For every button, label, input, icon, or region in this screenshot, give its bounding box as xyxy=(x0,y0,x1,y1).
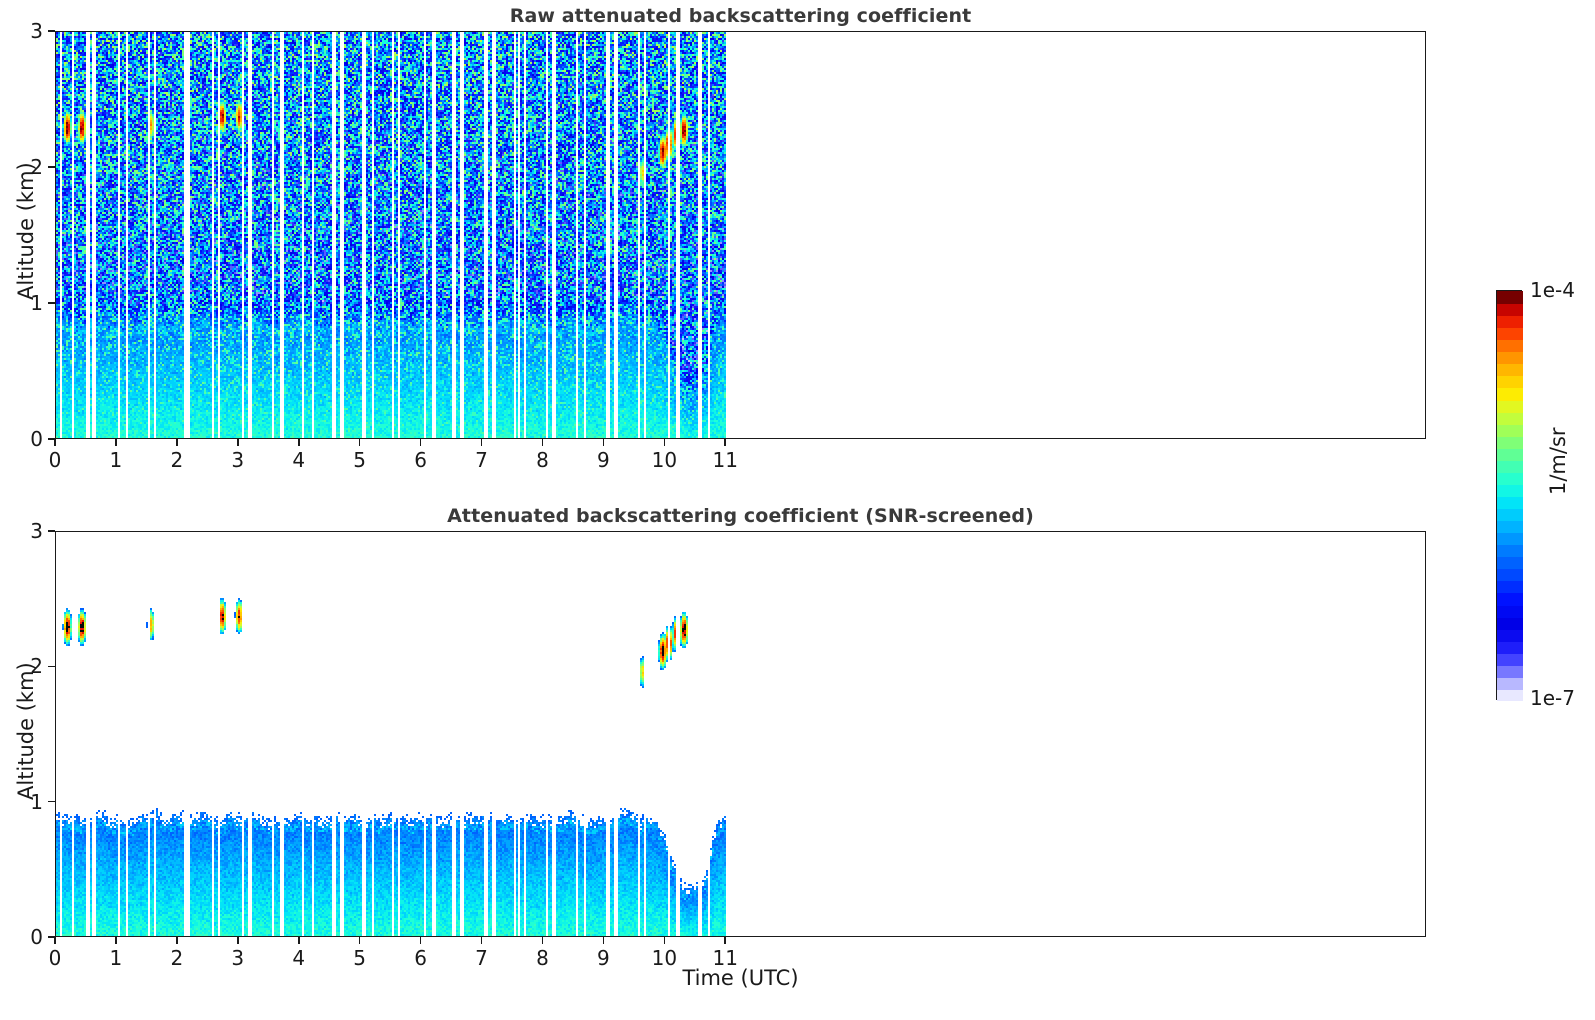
x-tick-label: 6 xyxy=(414,448,427,472)
x-tick-mark xyxy=(359,937,361,944)
heatmap-raw xyxy=(56,32,1426,439)
x-tick-label: 10 xyxy=(652,946,677,970)
x-tick-label: 11 xyxy=(713,448,738,472)
x-tick-label: 11 xyxy=(713,946,738,970)
x-tick-mark xyxy=(176,439,178,446)
x-tick-mark xyxy=(359,439,361,446)
panel-title-raw: Raw attenuated backscattering coefficien… xyxy=(55,5,1426,27)
y-tick-label: 0 xyxy=(11,427,43,451)
x-tick-label: 8 xyxy=(536,448,549,472)
x-tick-mark xyxy=(298,439,300,446)
x-tick-mark xyxy=(54,937,56,944)
plot-area-screened xyxy=(55,531,1426,937)
y-tick-mark xyxy=(48,30,55,32)
x-tick-mark xyxy=(54,439,56,446)
x-tick-mark xyxy=(542,937,544,944)
x-tick-label: 9 xyxy=(597,448,610,472)
x-tick-label: 0 xyxy=(49,946,62,970)
y-tick-label: 0 xyxy=(11,925,43,949)
x-axis-label: Time (UTC) xyxy=(0,966,1481,990)
y-tick-mark xyxy=(48,801,55,803)
x-tick-label: 2 xyxy=(170,448,183,472)
x-tick-label: 5 xyxy=(353,946,366,970)
x-tick-mark xyxy=(603,439,605,446)
panel-title-screened: Attenuated backscattering coefficient (S… xyxy=(55,505,1426,527)
colorbar-min-label: 1e-7 xyxy=(1530,686,1575,710)
colorbar-max-label: 1e-4 xyxy=(1530,278,1575,302)
y-axis-label-raw: Altitude (km) xyxy=(14,162,38,300)
plot-area-raw xyxy=(55,31,1426,439)
y-tick-mark xyxy=(48,302,55,304)
x-tick-label: 9 xyxy=(597,946,610,970)
x-tick-mark xyxy=(237,439,239,446)
lidar-backscatter-figure: Raw attenuated backscattering coefficien… xyxy=(0,0,1595,1020)
y-tick-label: 2 xyxy=(11,654,43,678)
y-tick-mark xyxy=(48,438,55,440)
x-tick-mark xyxy=(115,937,117,944)
x-tick-mark xyxy=(724,439,726,446)
x-tick-mark xyxy=(542,439,544,446)
x-tick-label: 10 xyxy=(652,448,677,472)
y-tick-label: 1 xyxy=(11,291,43,315)
x-tick-mark xyxy=(481,937,483,944)
y-tick-mark xyxy=(48,530,55,532)
x-tick-label: 4 xyxy=(292,448,305,472)
x-tick-label: 7 xyxy=(475,946,488,970)
x-tick-mark xyxy=(664,937,666,944)
y-tick-mark xyxy=(48,166,55,168)
colorbar-canvas xyxy=(1497,291,1523,701)
x-tick-label: 4 xyxy=(292,946,305,970)
x-tick-label: 8 xyxy=(536,946,549,970)
x-tick-label: 1 xyxy=(110,448,123,472)
y-tick-label: 1 xyxy=(11,790,43,814)
y-tick-label: 3 xyxy=(11,519,43,543)
x-tick-label: 1 xyxy=(110,946,123,970)
y-tick-mark xyxy=(48,936,55,938)
x-tick-mark xyxy=(724,937,726,944)
colorbar-unit-label: 1/m/sr xyxy=(1546,427,1570,495)
x-tick-label: 6 xyxy=(414,946,427,970)
x-tick-label: 2 xyxy=(170,946,183,970)
x-tick-mark xyxy=(237,937,239,944)
x-tick-mark xyxy=(115,439,117,446)
x-tick-label: 3 xyxy=(231,448,244,472)
y-tick-mark xyxy=(48,666,55,668)
x-tick-mark xyxy=(420,937,422,944)
x-tick-mark xyxy=(298,937,300,944)
x-tick-mark xyxy=(664,439,666,446)
y-axis-label-screened: Altitude (km) xyxy=(14,662,38,800)
heatmap-screened xyxy=(56,532,1426,937)
x-tick-label: 0 xyxy=(49,448,62,472)
x-tick-label: 5 xyxy=(353,448,366,472)
colorbar-gradient xyxy=(1496,290,1522,700)
x-tick-label: 3 xyxy=(231,946,244,970)
x-tick-mark xyxy=(481,439,483,446)
x-tick-mark xyxy=(603,937,605,944)
y-tick-label: 3 xyxy=(11,19,43,43)
x-tick-mark xyxy=(420,439,422,446)
colorbar: 1e-4 1e-7 xyxy=(1496,290,1522,700)
x-tick-label: 7 xyxy=(475,448,488,472)
x-tick-mark xyxy=(176,937,178,944)
y-tick-label: 2 xyxy=(11,155,43,179)
